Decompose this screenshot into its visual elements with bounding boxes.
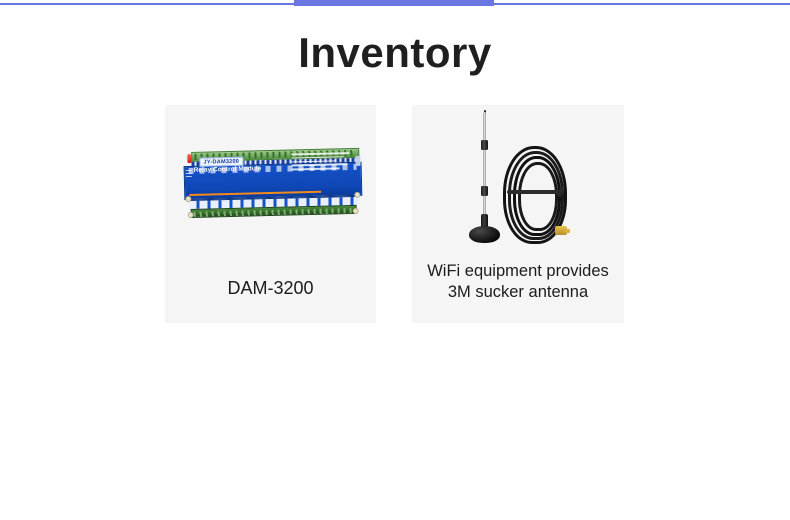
usb-port-icon	[355, 155, 360, 165]
product-caption: WiFi equipment provides 3M sucker antenn…	[420, 261, 615, 303]
mounting-hole	[352, 207, 358, 213]
spec-line	[291, 159, 336, 162]
relay-module-image: JY-DAM3200 Relay Control Module	[165, 105, 376, 260]
spec-line	[291, 167, 339, 170]
coiled-cable	[501, 146, 571, 244]
antenna-image	[412, 105, 624, 255]
antenna-joint	[481, 140, 488, 150]
product-card-row: JY-DAM3200 Relay Control Module	[165, 105, 625, 323]
terminal-screws	[193, 207, 353, 216]
pcb-side-markings	[185, 169, 191, 178]
spec-line	[291, 156, 343, 159]
spec-line	[291, 163, 347, 166]
mounting-hole	[187, 211, 193, 217]
board-subtitle-text: Relay Control Module	[193, 165, 261, 174]
cable-loop	[518, 162, 558, 231]
sma-connector-pin	[565, 229, 570, 233]
mounting-hole	[354, 191, 360, 197]
board-model-badge: JY-DAM3200	[199, 156, 243, 166]
product-caption-line-1: WiFi equipment provides	[427, 262, 609, 280]
magnetic-sucker-base	[469, 226, 500, 243]
relay-board-illustration: JY-DAM3200 Relay Control Module	[177, 143, 365, 222]
product-card-antenna[interactable]: WiFi equipment provides 3M sucker antenn…	[412, 105, 624, 323]
mounting-hole	[185, 195, 191, 201]
cable-tie	[507, 190, 563, 194]
product-card-relay-module[interactable]: JY-DAM3200 Relay Control Module	[165, 105, 376, 323]
power-led-icon	[187, 153, 191, 162]
pcb-orange-trace	[189, 191, 321, 196]
antenna-illustration	[453, 110, 583, 250]
product-caption: DAM-3200	[173, 278, 367, 299]
top-divider-accent	[294, 0, 494, 6]
board-spec-text-block	[291, 151, 353, 173]
product-caption-line-2: 3M sucker antenna	[448, 283, 588, 301]
page-title: Inventory	[0, 28, 790, 78]
antenna-whip	[483, 112, 486, 218]
antenna-joint	[481, 186, 488, 196]
